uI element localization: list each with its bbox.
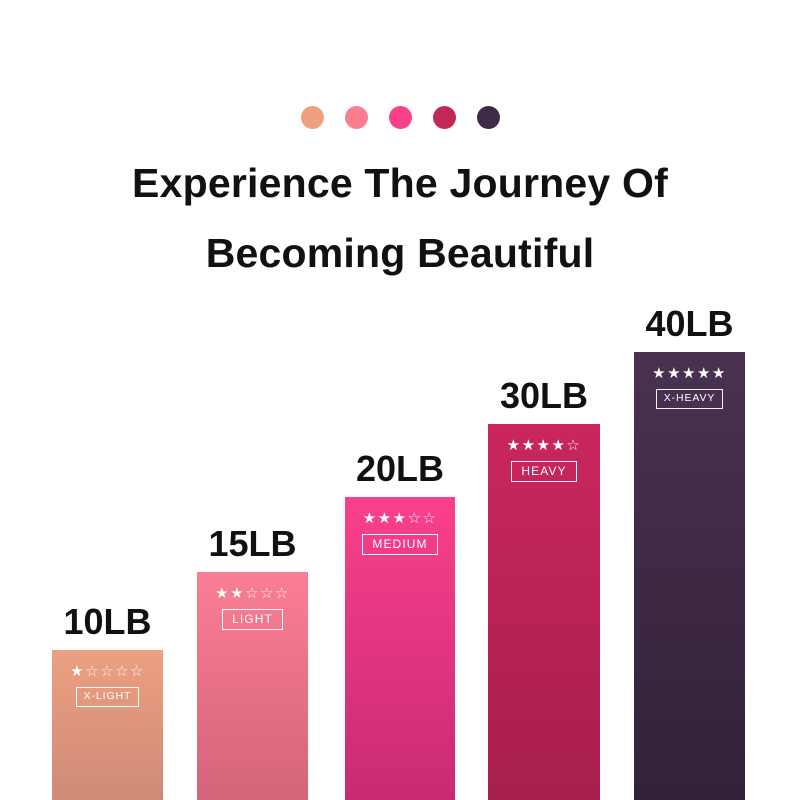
- bar-group-30lb[interactable]: 30LB★★★★☆HEAVY: [488, 424, 600, 800]
- star-rating-10lb: ★☆☆☆☆: [70, 664, 145, 679]
- star-filled-icon: ★: [363, 510, 378, 527]
- star-filled-icon: ★: [215, 585, 230, 602]
- star-empty-icon: ☆: [422, 510, 437, 527]
- bar-weight-label-30lb: 30LB: [500, 378, 588, 414]
- bar-weight-label-10lb: 10LB: [63, 604, 151, 640]
- bar-group-40lb[interactable]: 40LB★★★★★X-HEAVY: [634, 352, 745, 800]
- star-empty-icon: ☆: [245, 585, 260, 602]
- star-filled-icon: ★: [652, 365, 667, 382]
- tier-badge-medium: MEDIUM: [362, 534, 437, 555]
- bar-group-10lb[interactable]: 10LB★☆☆☆☆X-LIGHT: [52, 650, 163, 800]
- star-empty-icon: ☆: [407, 510, 422, 527]
- star-filled-icon: ★: [682, 365, 697, 382]
- star-empty-icon: ☆: [260, 585, 275, 602]
- bar-group-20lb[interactable]: 20LB★★★☆☆MEDIUM: [345, 497, 455, 800]
- star-empty-icon: ☆: [130, 663, 145, 680]
- bar-weight-label-40lb: 40LB: [645, 306, 733, 342]
- bar-20lb[interactable]: ★★★☆☆MEDIUM: [345, 497, 455, 800]
- star-filled-icon: ★: [507, 437, 522, 454]
- tier-badge-heavy: HEAVY: [511, 461, 576, 482]
- tier-badge-light: LIGHT: [222, 609, 283, 630]
- star-filled-icon: ★: [393, 510, 408, 527]
- star-empty-icon: ☆: [115, 663, 130, 680]
- bar-group-15lb[interactable]: 15LB★★☆☆☆LIGHT: [197, 572, 308, 800]
- star-rating-30lb: ★★★★☆: [507, 438, 582, 453]
- star-empty-icon: ☆: [100, 663, 115, 680]
- star-filled-icon: ★: [378, 510, 393, 527]
- star-filled-icon: ★: [551, 437, 566, 454]
- bar-weight-label-20lb: 20LB: [356, 451, 444, 487]
- bar-10lb[interactable]: ★☆☆☆☆X-LIGHT: [52, 650, 163, 800]
- star-empty-icon: ☆: [566, 437, 581, 454]
- star-filled-icon: ★: [70, 663, 85, 680]
- star-empty-icon: ☆: [85, 663, 100, 680]
- bar-30lb[interactable]: ★★★★☆HEAVY: [488, 424, 600, 800]
- resistance-band-bar-chart: 10LB★☆☆☆☆X-LIGHT15LB★★☆☆☆LIGHT20LB★★★☆☆M…: [0, 0, 800, 800]
- bar-40lb[interactable]: ★★★★★X-HEAVY: [634, 352, 745, 800]
- star-filled-icon: ★: [230, 585, 245, 602]
- star-rating-40lb: ★★★★★: [652, 366, 727, 381]
- star-filled-icon: ★: [712, 365, 727, 382]
- star-rating-15lb: ★★☆☆☆: [215, 586, 290, 601]
- tier-badge-x-light: X-LIGHT: [76, 687, 140, 707]
- bar-15lb[interactable]: ★★☆☆☆LIGHT: [197, 572, 308, 800]
- tier-badge-x-heavy: X-HEAVY: [656, 389, 724, 409]
- star-filled-icon: ★: [537, 437, 552, 454]
- star-filled-icon: ★: [667, 365, 682, 382]
- poster-canvas: Experience The Journey Of Becoming Beaut…: [0, 0, 800, 800]
- star-rating-20lb: ★★★☆☆: [363, 511, 438, 526]
- star-filled-icon: ★: [697, 365, 712, 382]
- star-filled-icon: ★: [522, 437, 537, 454]
- bar-weight-label-15lb: 15LB: [208, 526, 296, 562]
- star-empty-icon: ☆: [275, 585, 290, 602]
